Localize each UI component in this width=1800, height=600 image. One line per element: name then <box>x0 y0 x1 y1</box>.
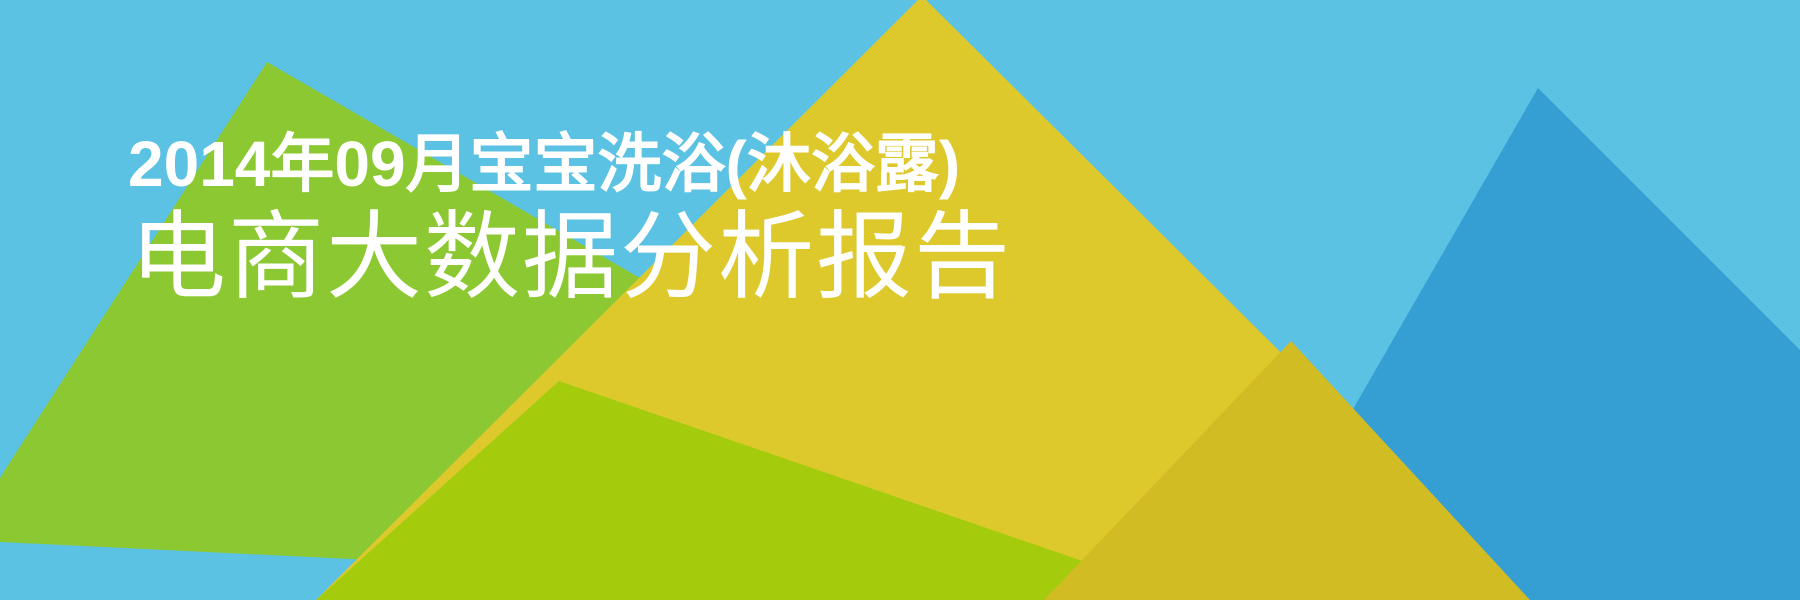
report-cover-banner: 2014年09月宝宝洗浴(沐浴露) 电商大数据分析报告 <box>0 0 1800 600</box>
background-graphic <box>0 0 1800 600</box>
